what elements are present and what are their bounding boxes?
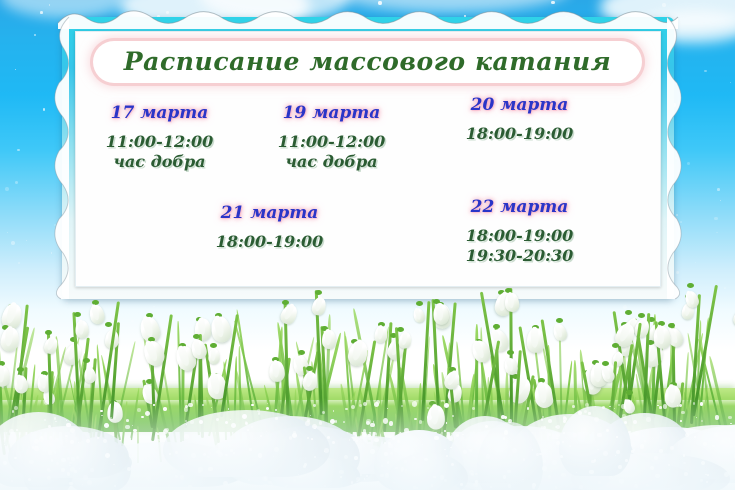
flower-bell — [189, 338, 208, 360]
flower-bell — [653, 325, 672, 349]
entry-time-line: час добра — [244, 152, 419, 172]
flower-bell — [504, 292, 520, 312]
entry-date: 19 марта — [244, 103, 419, 123]
flower-bell — [397, 332, 411, 350]
entry-times: 11:00-12:00 час добра — [72, 132, 247, 173]
frame-wave-top-icon — [58, 3, 678, 29]
entry-time-line: час добра — [72, 152, 247, 172]
entry-times: 11:00-12:00 час добра — [244, 132, 419, 173]
schedule-entry: 22 марта 18:00-19:00 19:30-20:30 — [422, 197, 617, 267]
entry-time-line: 18:00-19:00 — [422, 226, 617, 246]
flower-bell — [443, 370, 463, 392]
entry-date: 21 марта — [172, 203, 367, 223]
flower-bell — [346, 339, 370, 368]
entry-times: 18:00-19:00 — [172, 232, 367, 252]
flower-cap — [612, 343, 619, 348]
snowdrop-flower — [684, 283, 700, 416]
flower-cap — [306, 366, 313, 371]
schedule-entry: 20 марта 18:00-19:00 — [422, 95, 617, 144]
flower-cap — [416, 301, 423, 306]
flower-cap — [687, 283, 694, 288]
flower-bell — [311, 297, 328, 318]
flower-bell — [209, 315, 233, 344]
flower-cap — [556, 318, 563, 323]
flower-cap — [74, 312, 81, 317]
flower-bell — [731, 306, 735, 328]
poster-canvas: Расписание массового катания 17 марта 11… — [0, 0, 735, 490]
schedule-entry: 21 марта 18:00-19:00 — [172, 203, 367, 252]
flower-cap — [397, 327, 404, 332]
flower-cap — [602, 361, 609, 366]
flower-bell — [551, 323, 568, 343]
flower-bell — [75, 320, 89, 338]
snow-glow — [0, 398, 735, 490]
entry-times: 18:00-19:00 — [422, 124, 617, 144]
entry-time-line: 18:00-19:00 — [172, 232, 367, 252]
entry-time-line: 11:00-12:00 — [72, 132, 247, 152]
flower-cap — [625, 310, 632, 315]
flower-bell — [278, 303, 300, 327]
entry-date: 20 марта — [422, 95, 617, 115]
flower-bell — [412, 307, 426, 324]
flower-cap — [298, 350, 305, 355]
entry-time-line: 11:00-12:00 — [244, 132, 419, 152]
flower-cap — [83, 358, 90, 363]
schedule-entry: 17 марта 11:00-12:00 час добра — [72, 103, 247, 173]
flower-bell — [88, 304, 106, 326]
entry-time-line: 19:30-20:30 — [422, 246, 617, 266]
entry-times: 18:00-19:00 19:30-20:30 — [422, 226, 617, 267]
entry-date: 22 марта — [422, 197, 617, 217]
flower-bell — [683, 289, 701, 309]
snowdrop-flower-band — [0, 275, 735, 490]
schedule-list: 17 марта 11:00-12:00 час добра 19 марта … — [62, 95, 674, 295]
flower-cap — [105, 322, 112, 327]
flower-cap — [45, 330, 52, 335]
flower-cap — [626, 390, 633, 395]
flower-bell — [375, 326, 388, 344]
schedule-entry: 19 марта 11:00-12:00 час добра — [244, 103, 419, 173]
flower-bell — [42, 336, 59, 356]
entry-date: 17 марта — [72, 103, 247, 123]
flower-cap — [507, 350, 514, 355]
entry-time-line: 18:00-19:00 — [422, 124, 617, 144]
